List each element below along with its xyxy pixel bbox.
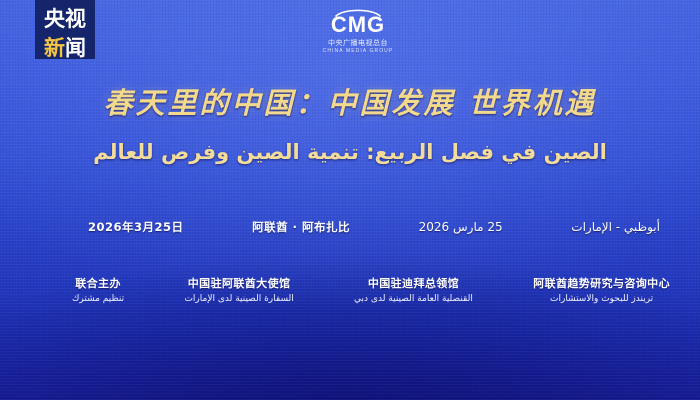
led-wall-texture (0, 0, 700, 400)
cmg-wordmark: CMG (316, 14, 400, 36)
cmg-chinese-name: 中央广播电视总台 (316, 39, 400, 47)
organizer-item: 中国驻阿联酋大使馆 السفارة الصينية لدى الإمارات (184, 277, 293, 306)
organizer-item: 阿联酋趋势研究与咨询中心 تريندز للبحوث والاستشارات (533, 277, 670, 306)
event-date-chinese: 2026年3月25日 (88, 219, 184, 235)
cctv-logo-line1-text: 央视 (44, 9, 86, 30)
broadcast-title-card: 央视 新 闻 CMG 中央广播电视总台 CHINA MEDIA GROUP 春天… (0, 0, 700, 400)
stage-glow (0, 0, 700, 400)
event-title-arabic: الصين في فصل الربيع: تنمية الصين وفرص لل… (0, 140, 700, 164)
organizer-item: 联合主办 تنظيم مشترك (72, 277, 124, 306)
event-date-arabic: 25 مارس 2026 (419, 220, 503, 234)
event-meta-row: 2026年3月25日 阿联酋 · 阿布扎比 25 مارس 2026 أبوظب… (88, 219, 660, 235)
organizers-row: 联合主办 تنظيم مشترك 中国驻阿联酋大使馆 السفارة الصين… (72, 277, 670, 306)
cctv-logo-line2: 新 闻 (36, 34, 94, 67)
organizer-item: 中国驻迪拜总领馆 القنصلية العامة الصينية لدى دبي (354, 277, 473, 306)
cctv-logo-line1: 央视 (36, 0, 94, 34)
cctv-news-logo: 央视 新 闻 (36, 0, 94, 58)
organizer-name-chinese: 中国驻迪拜总领馆 (354, 277, 473, 292)
organizer-name-arabic: السفارة الصينية لدى الإمارات (184, 293, 293, 307)
organizer-name-chinese: 阿联酋趋势研究与咨询中心 (533, 277, 670, 292)
organizer-name-arabic: القنصلية العامة الصينية لدى دبي (354, 293, 473, 307)
cmg-logo: CMG 中央广播电视总台 CHINA MEDIA GROUP (316, 8, 400, 54)
organizer-name-chinese: 中国驻阿联酋大使馆 (184, 277, 293, 292)
organizer-name-arabic: تنظيم مشترك (72, 293, 124, 307)
cctv-logo-line2-white-text: 闻 (65, 38, 86, 59)
organizer-name-chinese: 联合主办 (72, 277, 124, 292)
event-place-chinese: 阿联酋 · 阿布扎比 (252, 219, 350, 235)
cctv-logo-line2-gold-text: 新 (44, 38, 65, 59)
cmg-english-name: CHINA MEDIA GROUP (316, 48, 400, 54)
event-title-chinese: 春天里的中国：中国发展 世界机遇 (0, 80, 700, 122)
event-place-arabic: أبوظبي - الإمارات (571, 220, 660, 234)
organizer-name-arabic: تريندز للبحوث والاستشارات (533, 293, 670, 307)
